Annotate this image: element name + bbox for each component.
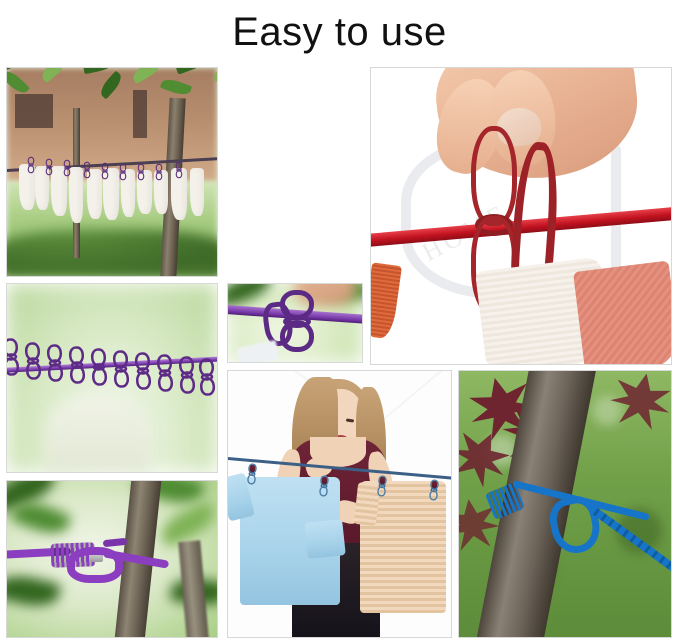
purple-clip-closeup-scene <box>228 284 362 362</box>
blue-bungee-scene <box>459 371 671 637</box>
purple-clip <box>69 346 86 384</box>
panel-woman-hanging-clothes[interactable] <box>227 370 452 638</box>
purple-clip <box>157 354 174 392</box>
red-clip-scene: HOME <box>371 68 671 364</box>
purple-clip <box>135 352 152 390</box>
tree-canopy <box>7 68 217 151</box>
purple-clip <box>47 344 64 382</box>
panel-outdoor-clothesline-socks[interactable] <box>6 67 218 277</box>
purple-clip <box>199 358 216 396</box>
purple-clip <box>25 342 42 380</box>
clothes-clip <box>138 164 145 181</box>
purple-clip <box>7 338 19 376</box>
panel-hand-attaching-red-clip[interactable]: HOME <box>370 67 672 365</box>
hedge <box>7 230 217 276</box>
clothes-clip <box>156 164 163 181</box>
clothes-clip <box>46 159 53 176</box>
clothes-clip <box>28 157 35 174</box>
purple-clip <box>113 350 130 388</box>
panel-purple-bungee-cord-on-tree[interactable] <box>6 480 218 638</box>
purple-clip-row-scene <box>7 284 217 472</box>
purple-bungee-scene <box>7 481 217 637</box>
woman-hanging-clothes-scene <box>228 371 451 637</box>
tree-canopy <box>7 284 217 333</box>
panel-purple-clip-closeup[interactable] <box>227 283 363 363</box>
page-title: Easy to use <box>0 6 679 58</box>
blue-tshirt-sleeve-right <box>304 519 346 559</box>
clothes-clip <box>120 164 127 181</box>
purple-clip <box>91 348 108 386</box>
panel-blue-bungee-cord-on-tree[interactable] <box>458 370 672 638</box>
garden-path <box>45 393 150 472</box>
clothes-clip <box>84 162 91 179</box>
purple-clip <box>179 356 196 394</box>
clothes-clip <box>176 162 183 179</box>
panel-row-of-purple-clips[interactable] <box>6 283 218 473</box>
striped-top-sleeve <box>354 482 380 526</box>
clothesline-socks-scene <box>7 68 217 276</box>
clothes-clip <box>102 163 109 180</box>
pink-sock-section <box>573 261 671 364</box>
clothes-clip <box>64 160 71 177</box>
